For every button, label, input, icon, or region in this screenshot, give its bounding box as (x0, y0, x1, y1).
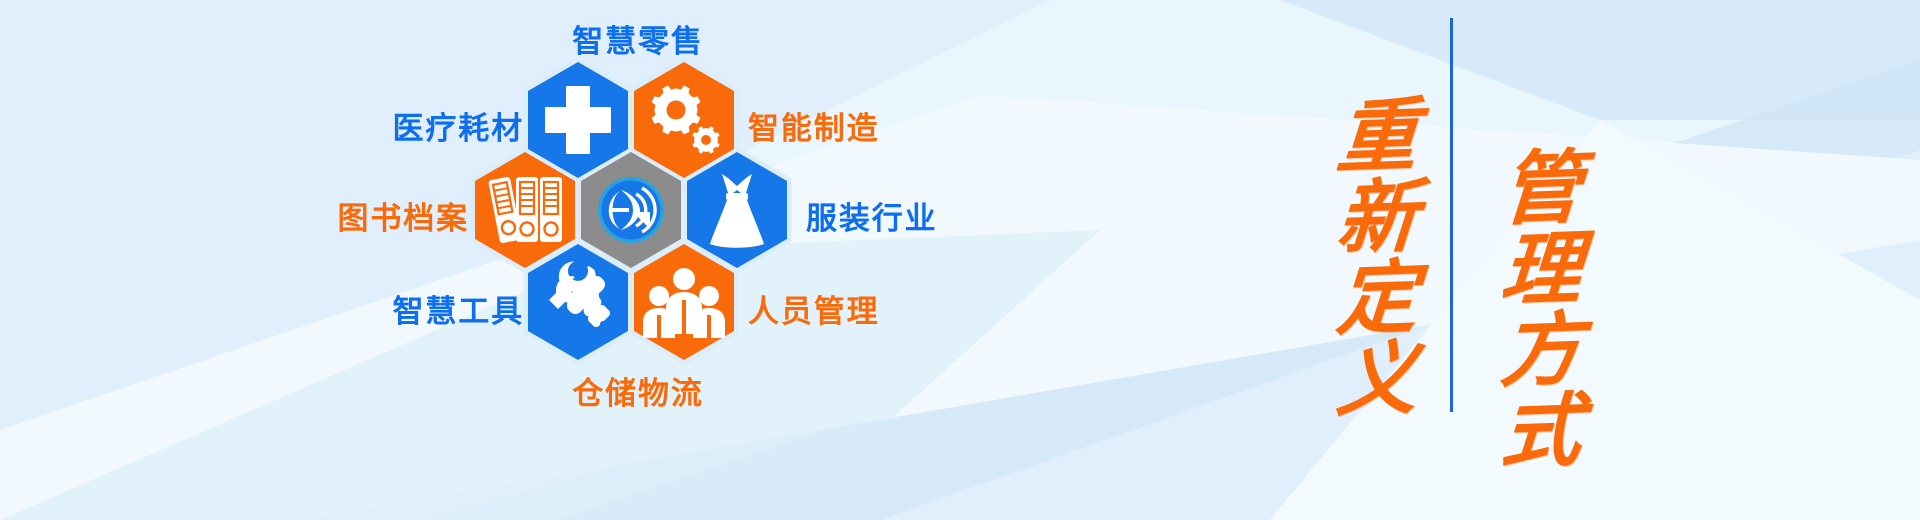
label-smart-retail[interactable]: 智慧零售 (572, 16, 703, 61)
calligraphy-char: 定 (1334, 261, 1420, 341)
calligraphy-block: 重 新 定 义 管 理 方 式 (1290, 0, 1630, 520)
calligraphy-char: 管 (1498, 151, 1584, 231)
label-warehouse-logistics[interactable]: 仓储物流 (572, 368, 703, 413)
binders-icon (488, 176, 562, 243)
hexagon-cluster-svg (0, 0, 1920, 520)
label-apparel-industry[interactable]: 服装行业 (806, 193, 937, 238)
label-books-archives[interactable]: 图书档案 (338, 193, 469, 238)
calligraphy-char: 方 (1498, 313, 1584, 393)
calligraphy-char: 重 (1334, 99, 1420, 179)
rfid-logo-icon (598, 177, 664, 243)
calligraphy-column-right: 管 理 方 式 (1476, 0, 1606, 520)
label-smart-manufacturing[interactable]: 智能制造 (748, 103, 879, 148)
calligraphy-char: 理 (1498, 232, 1584, 312)
calligraphy-char: 义 (1334, 341, 1420, 421)
banner-canvas: 智慧零售 医疗耗材 智能制造 图书档案 服装行业 智慧工具 人员管理 仓储物流 … (0, 0, 1920, 520)
hexagon-cluster (0, 0, 1920, 520)
label-smart-tools[interactable]: 智慧工具 (393, 286, 524, 331)
calligraphy-char: 式 (1498, 393, 1584, 473)
label-personnel-management[interactable]: 人员管理 (748, 286, 879, 331)
label-medical-supplies[interactable]: 医疗耗材 (393, 103, 524, 148)
calligraphy-divider-line (1450, 18, 1453, 412)
calligraphy-char: 新 (1334, 180, 1420, 260)
calligraphy-column-left: 重 新 定 义 (1312, 0, 1442, 520)
